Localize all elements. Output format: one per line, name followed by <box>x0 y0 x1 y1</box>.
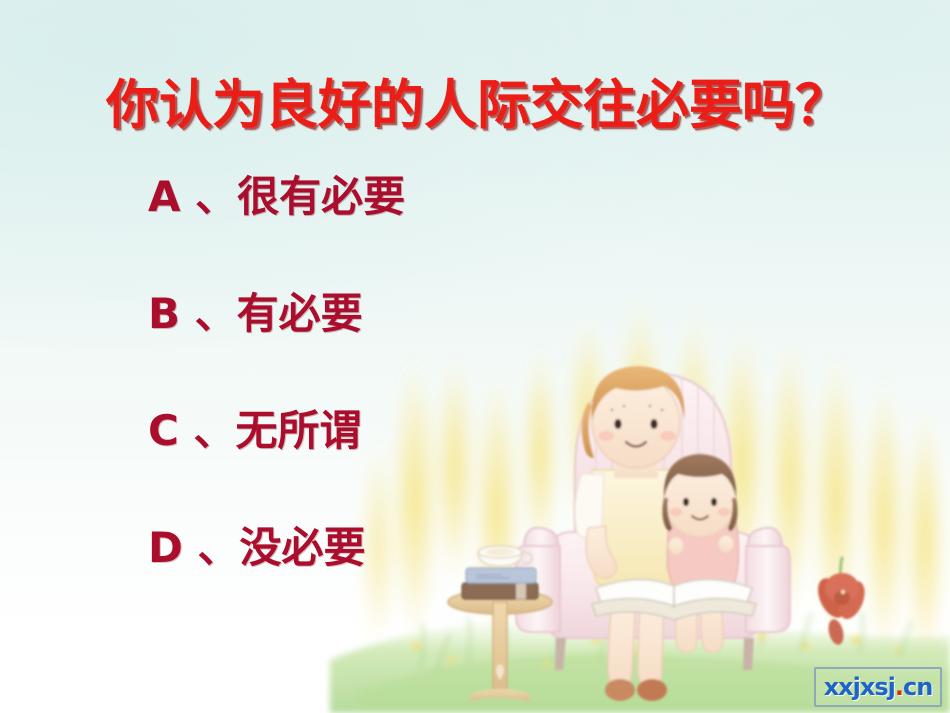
watermark-badge: xxjxsj.cn <box>814 667 942 707</box>
page-title: 你认为良好的人际交往必要吗？ <box>106 78 848 134</box>
mother-figure <box>575 366 700 701</box>
wooden-side-table <box>448 590 552 702</box>
option-c[interactable]: C 、无所谓 <box>148 410 568 460</box>
watermark-tld: cn <box>903 673 932 701</box>
watermark-dot: . <box>895 673 903 701</box>
red-poppy-flower <box>812 558 869 646</box>
watermark-text: xxjxsj.cn <box>824 675 933 699</box>
answer-options-list: A 、很有必要 B 、有必要 C 、无所谓 D 、没必要 <box>148 176 568 577</box>
open-book <box>592 579 756 620</box>
option-a[interactable]: A 、很有必要 <box>148 176 568 226</box>
slide-canvas: 你认为良好的人际交往必要吗？ A 、很有必要 B 、有必要 C 、无所谓 D 、… <box>0 0 950 713</box>
watermark-main: xxjxsj <box>824 673 895 701</box>
option-d[interactable]: D 、没必要 <box>148 527 568 577</box>
child-figure <box>662 454 738 652</box>
option-b[interactable]: B 、有必要 <box>148 293 568 343</box>
